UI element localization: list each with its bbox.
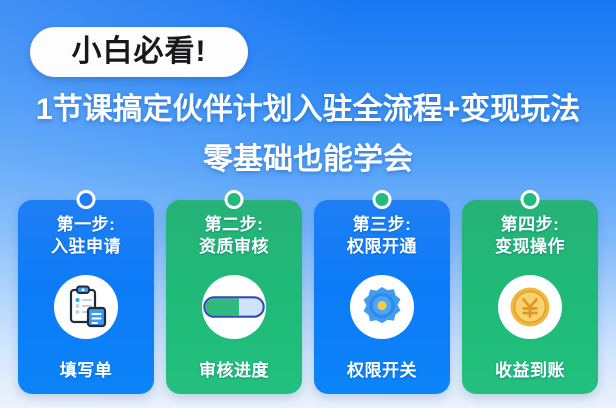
steps-row: 第一步: 入驻申请 (18, 200, 598, 394)
clipboard-form-icon (54, 275, 118, 339)
step-marker-dot-icon (225, 190, 244, 209)
yuan-coin-icon (498, 275, 562, 339)
step-marker-dot-icon (521, 190, 540, 209)
step-card-2[interactable]: 第二步: 资质审核 审核进度 (166, 200, 302, 394)
step-card-1-title: 入驻申请 (51, 236, 121, 258)
step-card-3-step-label: 第三步: (353, 214, 412, 236)
step-marker-dot-icon (77, 190, 96, 209)
step-card-3-icon-area (350, 258, 414, 357)
step-card-1-icon-area (54, 258, 118, 357)
step-card-2-icon-area (202, 258, 266, 357)
step-card-4-caption: 收益到账 (495, 356, 565, 381)
step-marker-dot-icon (373, 190, 392, 209)
step-card-3-title: 权限开通 (347, 236, 417, 258)
step-card-1[interactable]: 第一步: 入驻申请 (18, 200, 154, 394)
gear-settings-icon (350, 275, 414, 339)
progress-bar-icon (202, 275, 266, 339)
page-subtitle: 零基础也能学会 (0, 142, 616, 177)
step-card-4[interactable]: 第四步: 变现操作 (462, 200, 598, 394)
step-card-4-icon-area (498, 258, 562, 357)
page-title: 1节课搞定伙伴计划入驻全流程+变现玩法 (0, 92, 616, 127)
promo-poster: 小白必看! 1节课搞定伙伴计划入驻全流程+变现玩法 零基础也能学会 第一步: 入… (0, 0, 616, 408)
step-card-4-title: 变现操作 (495, 236, 565, 258)
highlight-badge: 小白必看! (30, 27, 248, 77)
step-card-2-title: 资质审核 (199, 236, 269, 258)
step-card-3[interactable]: 第三步: 权限开通 权限开关 (314, 200, 450, 394)
highlight-badge-label: 小白必看! (72, 37, 207, 67)
step-card-4-step-label: 第四步: (501, 214, 560, 236)
step-card-1-caption: 填写单 (60, 356, 113, 381)
step-card-2-step-label: 第二步: (205, 214, 264, 236)
step-card-1-step-label: 第一步: (57, 214, 116, 236)
step-card-3-caption: 权限开关 (347, 356, 417, 381)
step-card-2-caption: 审核进度 (199, 356, 269, 381)
